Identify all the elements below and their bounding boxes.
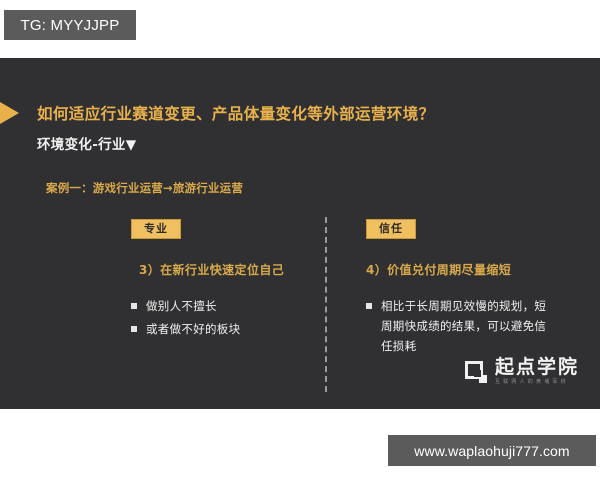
logo-name: 起点学院 (495, 358, 579, 377)
tg-watermark-badge: TG: MYYJJPP (4, 10, 136, 40)
column-heading: 4）价值兑付周期尽量缩短 (366, 261, 551, 278)
list-item-label: 做别人不擅长 (146, 296, 311, 316)
column-divider (325, 217, 327, 392)
list-item: 相比于长周期见效慢的规划，短周期快成绩的结果，可以避免信任损耗 (366, 296, 551, 356)
bullet-list: 做别人不擅长 或者做不好的板块 (131, 296, 311, 339)
square-bullet-icon (131, 303, 137, 309)
column-pill-badge: 专业 (131, 219, 181, 239)
slide-title: 如何适应行业赛道变更、产品体量变化等外部运营环境？ (37, 102, 435, 124)
logo-text-block: 起点学院 互联网人的黄埔军校 (495, 358, 579, 385)
arrow-right-icon (0, 102, 19, 124)
bullet-list: 相比于长周期见效慢的规划，短周期快成绩的结果，可以避免信任损耗 (366, 296, 551, 356)
logo-tagline: 互联网人的黄埔军校 (495, 380, 579, 385)
brand-logo: 起点学院 互联网人的黄埔军校 (465, 358, 579, 385)
list-item: 或者做不好的板块 (131, 319, 311, 339)
list-item-label: 相比于长周期见效慢的规划，短周期快成绩的结果，可以避免信任损耗 (381, 296, 551, 356)
url-watermark-badge: www.waplaohuji777.com (388, 435, 596, 466)
logo-bracket-icon (465, 361, 487, 383)
presentation-slide: 如何适应行业赛道变更、产品体量变化等外部运营环境？ 环境变化-行业▼ 案例一：游… (0, 58, 600, 409)
slide-title-row: 如何适应行业赛道变更、产品体量变化等外部运营环境？ (0, 102, 435, 124)
logo-cut-shape (474, 370, 481, 377)
case-study-label: 案例一：游戏行业运营→旅游行业运营 (46, 180, 243, 196)
square-bullet-icon (366, 303, 372, 309)
list-item: 做别人不擅长 (131, 296, 311, 316)
slide-subtitle: 环境变化-行业▼ (37, 133, 136, 153)
column-professional: 专业 3）在新行业快速定位自己 做别人不擅长 或者做不好的板块 (131, 217, 311, 355)
list-item-label: 或者做不好的板块 (146, 319, 311, 339)
square-bullet-icon (131, 326, 137, 332)
column-pill-badge: 信任 (366, 219, 416, 239)
column-trust: 信任 4）价值兑付周期尽量缩短 相比于长周期见效慢的规划，短周期快成绩的结果，可… (366, 217, 551, 372)
column-heading: 3）在新行业快速定位自己 (139, 261, 311, 278)
